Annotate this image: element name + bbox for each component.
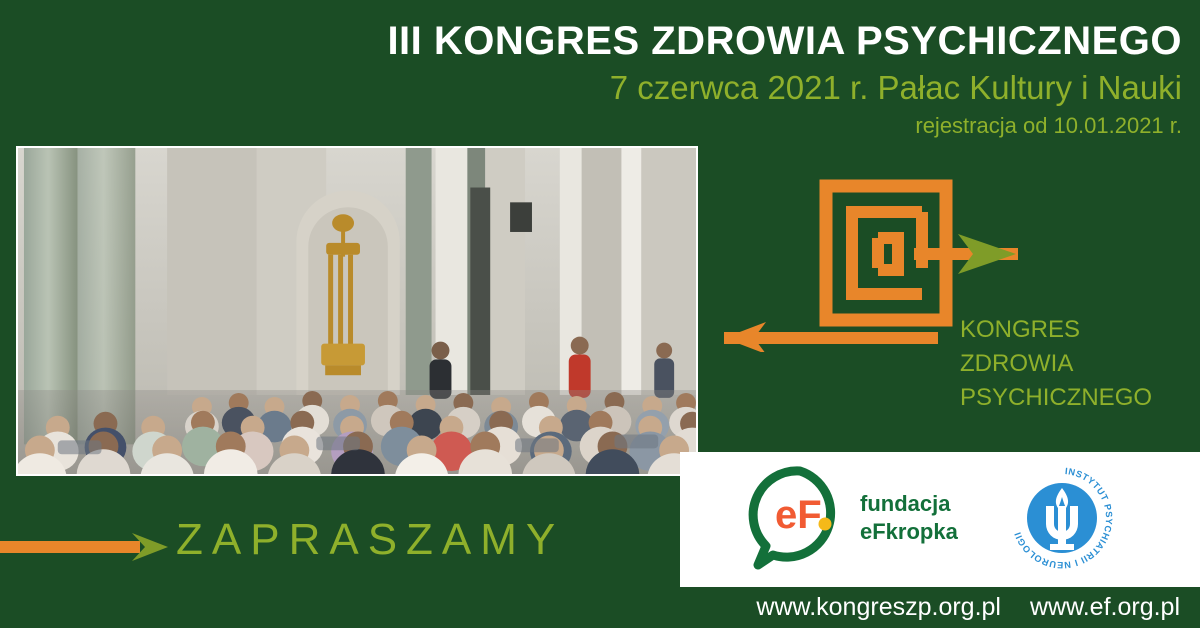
congress-logo-line-2: ZDROWIA [960, 347, 1200, 381]
poster-canvas: III KONGRES ZDROWIA PSYCHICZNEGO 7 czerw… [0, 0, 1200, 628]
url-ef[interactable]: www.ef.org.pl [1030, 593, 1180, 621]
efkropka-name-line-1: fundacja [860, 490, 958, 518]
efkropka-logo: eF fundacja eFkropka [748, 460, 978, 576]
website-urls: www.kongreszp.org.pl www.ef.org.pl [756, 593, 1180, 622]
page-title: III KONGRES ZDROWIA PSYCHICZNEGO [322, 18, 1182, 64]
efkropka-name: fundacja eFkropka [860, 490, 958, 546]
congress-logo-line-3: PSYCHICZNEGO [960, 381, 1200, 415]
congress-logo-line-1: KONGRES [960, 313, 1200, 347]
institute-seal-icon: INSTYTUT PSYCHIATRII I NEUROLOGII [1006, 462, 1118, 574]
speech-bubble-ef-icon: eF [748, 466, 852, 570]
headline-block: III KONGRES ZDROWIA PSYCHICZNEGO 7 czerw… [322, 18, 1182, 140]
registration-note: rejestracja od 10.01.2021 r. [322, 112, 1182, 140]
audience-photo [16, 146, 698, 476]
sponsor-panel: eF fundacja eFkropka INSTYTUT PSYCHIATRI… [680, 452, 1200, 587]
audience-photo-illustration [18, 148, 696, 474]
arrow-right-icon [0, 533, 170, 561]
congress-logo-text: KONGRES ZDROWIA PSYCHICZNEGO [960, 313, 1200, 415]
url-kongreszp[interactable]: www.kongreszp.org.pl [756, 593, 1001, 621]
efkropka-name-line-2: eFkropka [860, 518, 958, 546]
invitation-row: ZAPRASZAMY [0, 505, 680, 585]
invitation-text: ZAPRASZAMY [176, 515, 564, 565]
event-date-venue: 7 czerwca 2021 r. Pałac Kultury i Nauki [322, 68, 1182, 108]
svg-text:eF: eF [775, 493, 822, 537]
